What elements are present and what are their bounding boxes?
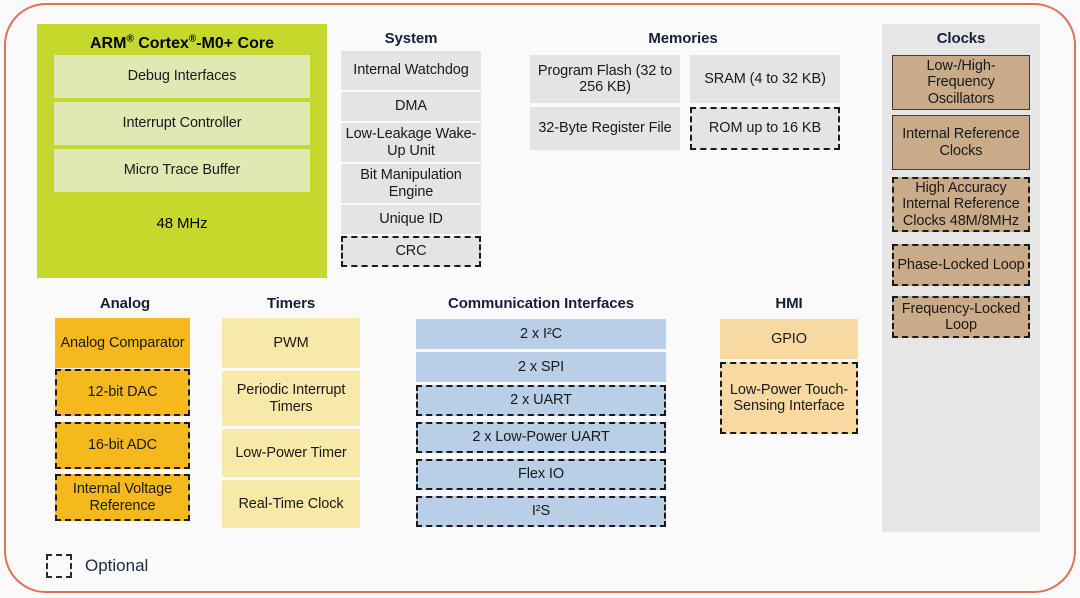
block-label: Flex IO [518, 466, 564, 482]
timers-item-pwm[interactable]: PWM [222, 318, 360, 368]
block-label: Frequency-Locked Loop [894, 301, 1028, 333]
section-title-text: Timers [267, 295, 315, 312]
block-label: Bit Manipulation Engine [341, 167, 481, 199]
block-label: 2 x Low-Power UART [472, 429, 609, 445]
block-label: Low-Power Touch-Sensing Interface [722, 382, 856, 414]
block-label: 12-bit DAC [88, 384, 158, 400]
section-title-text: Memories [648, 30, 717, 47]
system-item-crc[interactable]: CRC [341, 236, 481, 267]
analog-item-12-bit-dac[interactable]: 12-bit DAC [55, 369, 190, 416]
dashed-box-icon [46, 554, 72, 578]
comms-item-low-power-uart[interactable]: 2 x Low-Power UART [416, 422, 666, 453]
block-label: 2 x I²C [520, 326, 562, 342]
block-label: Low-Power Timer [235, 445, 346, 461]
arm-core-title: ARM® Cortex®-M0+ Core [37, 35, 327, 53]
legend: Optional [46, 554, 148, 578]
block-label: Internal Reference Clocks [893, 126, 1029, 158]
comms-item-spi[interactable]: 2 x SPI [416, 352, 666, 382]
block-label: Phase-Locked Loop [897, 257, 1024, 273]
arm-core-title-text: ARM® Cortex®-M0+ Core [90, 35, 274, 53]
section-title-communication-interfaces: Communication Interfaces [416, 293, 666, 313]
timers-item-real-time-clock[interactable]: Real-Time Clock [222, 480, 360, 528]
section-title-text: HMI [775, 295, 802, 312]
block-label: Program Flash (32 to 256 KB) [530, 63, 680, 95]
block-label: PWM [273, 335, 308, 351]
section-title-text: System [385, 30, 438, 47]
block-label: High Accuracy Internal Reference Clocks … [894, 180, 1028, 229]
section-title-memories: Memories [530, 28, 836, 48]
section-title-system: System [341, 28, 481, 48]
block-label: Periodic Interrupt Timers [222, 382, 360, 414]
section-title-analog: Analog [55, 293, 195, 313]
block-label: Low-Leakage Wake-Up Unit [341, 126, 481, 158]
memories-item-rom[interactable]: ROM up to 16 KB [690, 107, 840, 150]
block-label: CRC [395, 243, 426, 259]
comms-item-i2s[interactable]: I²S [416, 496, 666, 527]
system-item-unique-id[interactable]: Unique ID [341, 205, 481, 234]
block-label: SRAM (4 to 32 KB) [704, 71, 826, 87]
analog-item-analog-comparator[interactable]: Analog Comparator [55, 318, 190, 368]
timers-item-periodic-interrupt-timers[interactable]: Periodic Interrupt Timers [222, 371, 360, 426]
timers-item-low-power-timer[interactable]: Low-Power Timer [222, 429, 360, 477]
core-block-micro-trace-buffer[interactable]: Micro Trace Buffer [54, 149, 310, 192]
section-title-text: Clocks [937, 30, 986, 47]
comms-item-i2c[interactable]: 2 x I²C [416, 319, 666, 349]
core-block-label: Micro Trace Buffer [124, 162, 240, 178]
core-block-debug-interfaces[interactable]: Debug Interfaces [54, 55, 310, 98]
block-label: Unique ID [379, 211, 443, 227]
system-item-low-leakage-wake-up-unit[interactable]: Low-Leakage Wake-Up Unit [341, 123, 481, 162]
core-block-label: Interrupt Controller [123, 115, 242, 131]
clocks-item-internal-reference-clocks[interactable]: Internal Reference Clocks [892, 115, 1030, 170]
clocks-item-frequency-locked-loop[interactable]: Frequency-Locked Loop [892, 296, 1030, 338]
block-label: 2 x SPI [518, 359, 564, 375]
section-title-hmi: HMI [720, 293, 858, 313]
core-block-label: Debug Interfaces [128, 68, 237, 84]
core-frequency: 48 MHz [54, 212, 310, 236]
comms-item-flex-io[interactable]: Flex IO [416, 459, 666, 490]
memories-item-program-flash[interactable]: Program Flash (32 to 256 KB) [530, 55, 680, 103]
section-title-clocks: Clocks [882, 28, 1040, 48]
block-label: 16-bit ADC [88, 437, 157, 453]
memories-item-sram[interactable]: SRAM (4 to 32 KB) [690, 55, 840, 103]
core-frequency-label: 48 MHz [156, 216, 207, 233]
clocks-item-high-accuracy-reference-clocks[interactable]: High Accuracy Internal Reference Clocks … [892, 177, 1030, 232]
analog-item-16-bit-adc[interactable]: 16-bit ADC [55, 422, 190, 469]
section-title-timers: Timers [222, 293, 360, 313]
block-label: Analog Comparator [60, 335, 184, 351]
memories-item-register-file[interactable]: 32-Byte Register File [530, 107, 680, 150]
block-label: GPIO [771, 331, 807, 347]
block-label: ROM up to 16 KB [709, 120, 821, 136]
block-label: Low-/High-Frequency Oscillators [893, 58, 1029, 107]
block-label: 32-Byte Register File [538, 120, 671, 136]
block-label: DMA [395, 98, 427, 114]
clocks-item-oscillators[interactable]: Low-/High-Frequency Oscillators [892, 55, 1030, 110]
system-item-bit-manipulation-engine[interactable]: Bit Manipulation Engine [341, 164, 481, 203]
block-label: Real-Time Clock [238, 496, 343, 512]
system-item-dma[interactable]: DMA [341, 92, 481, 121]
comms-item-uart[interactable]: 2 x UART [416, 385, 666, 416]
clocks-item-phase-locked-loop[interactable]: Phase-Locked Loop [892, 244, 1030, 286]
analog-item-internal-voltage-reference[interactable]: Internal Voltage Reference [55, 474, 190, 521]
block-label: 2 x UART [510, 392, 572, 408]
legend-label: Optional [85, 556, 148, 576]
section-title-text: Analog [100, 295, 150, 312]
system-item-internal-watchdog[interactable]: Internal Watchdog [341, 51, 481, 90]
block-label: I²S [532, 503, 550, 519]
hmi-item-gpio[interactable]: GPIO [720, 319, 858, 359]
section-title-text: Communication Interfaces [448, 295, 634, 312]
hmi-item-low-power-touch-sensing-interface[interactable]: Low-Power Touch-Sensing Interface [720, 362, 858, 434]
block-label: Internal Watchdog [353, 62, 468, 78]
core-block-interrupt-controller[interactable]: Interrupt Controller [54, 102, 310, 145]
block-label: Internal Voltage Reference [57, 481, 188, 513]
block-diagram: ARM® Cortex®-M0+ Core Debug Interfaces I… [0, 0, 1080, 598]
